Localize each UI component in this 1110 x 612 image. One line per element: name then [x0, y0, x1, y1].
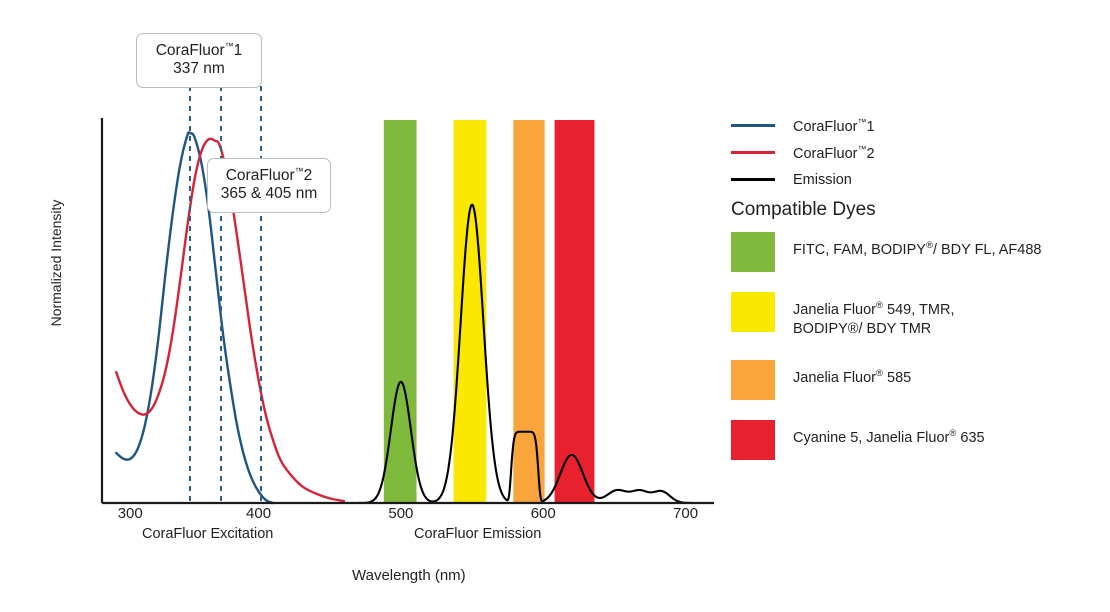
trademark-symbol: ™: [857, 144, 866, 154]
red-band: [555, 120, 595, 503]
spectra-figure: CoraFluor™1 337 nm CoraFluor™2 365 & 405…: [0, 0, 1110, 612]
x-axis-title: Wavelength (nm): [352, 567, 466, 584]
trademark-symbol: ™: [857, 117, 866, 127]
x-tick-600: 600: [513, 505, 573, 522]
y-axis-title: Normalized Intensity: [48, 173, 64, 353]
legend-line-swatch: [731, 151, 775, 153]
callout-cf2-line2: 365 & 405 nm: [220, 185, 318, 203]
legend-item-label: CoraFluor™1: [793, 117, 875, 135]
yellow-band: [454, 120, 487, 503]
axis-group-label-emission: CoraFluor Emission: [414, 526, 541, 542]
x-tick-300: 300: [100, 505, 160, 522]
series-legend: CoraFluor™1CoraFluor™2Emission: [731, 112, 1061, 193]
callout-cf1-line1: CoraFluor™1: [156, 42, 243, 59]
x-tick-700: 700: [656, 505, 716, 522]
compatible-dyes-title: Compatible Dyes: [731, 199, 876, 221]
dye-row-1[interactable]: FITC, FAM, BODIPY®/ BDY FL, AF488: [731, 232, 1081, 272]
orange-band: [513, 120, 544, 503]
callout-corafluor1: CoraFluor™1 337 nm: [136, 33, 262, 88]
x-tick-400: 400: [229, 505, 289, 522]
compatible-dyes-list: FITC, FAM, BODIPY®/ BDY FL, AF488Janelia…: [731, 232, 1081, 480]
callout-corafluor2: CoraFluor™2 365 & 405 nm: [207, 158, 331, 213]
dye-color-swatch: [731, 420, 775, 460]
registered-symbol: ®: [876, 300, 883, 311]
legend-item-label: CoraFluor™2: [793, 144, 875, 162]
legend-item-3[interactable]: Emission: [731, 166, 1061, 193]
legend-item-1[interactable]: CoraFluor™1: [731, 112, 1061, 139]
legend-line-swatch: [731, 124, 775, 126]
dye-row-4[interactable]: Cyanine 5, Janelia Fluor® 635: [731, 420, 1081, 460]
dye-row-3[interactable]: Janelia Fluor® 585: [731, 360, 1081, 400]
legend-line-swatch: [731, 178, 775, 180]
callout-cf2-line1: CoraFluor™2: [226, 167, 313, 184]
dye-color-swatch: [731, 292, 775, 332]
dye-label: Janelia Fluor® 549, TMR,BODIPY®/ BDY TMR: [793, 292, 954, 340]
dye-label-line2: BODIPY®/ BDY TMR: [793, 320, 954, 340]
curve-emission: [287, 205, 713, 503]
callout-cf1-line2: 337 nm: [149, 60, 249, 78]
axis-group-label-excitation: CoraFluor Excitation: [142, 526, 273, 542]
dye-color-swatch: [731, 232, 775, 272]
dye-label: Cyanine 5, Janelia Fluor® 635: [793, 420, 985, 448]
registered-symbol: ®: [949, 428, 956, 439]
dye-label: Janelia Fluor® 585: [793, 360, 911, 388]
legend-item-2[interactable]: CoraFluor™2: [731, 139, 1061, 166]
legend-item-label: Emission: [793, 172, 852, 188]
x-tick-500: 500: [371, 505, 431, 522]
dye-label: FITC, FAM, BODIPY®/ BDY FL, AF488: [793, 232, 1041, 260]
registered-symbol: ®: [876, 368, 883, 379]
registered-symbol: ®: [926, 240, 933, 251]
dye-row-2[interactable]: Janelia Fluor® 549, TMR,BODIPY®/ BDY TMR: [731, 292, 1081, 340]
dye-color-swatch: [731, 360, 775, 400]
